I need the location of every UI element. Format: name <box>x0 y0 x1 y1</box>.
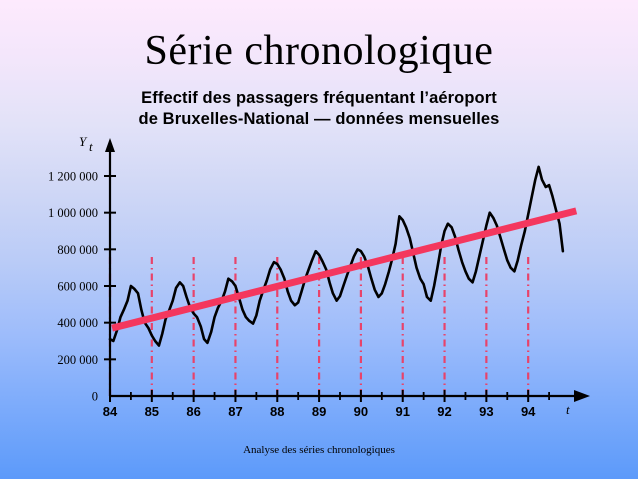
x-tick-label-87: 87 <box>228 404 242 419</box>
y-axis-title-subscript: t <box>89 139 93 154</box>
x-tick-label-94: 94 <box>521 404 536 419</box>
y-axis-title: Y <box>79 134 88 149</box>
slide-footer-caption: Analyse des séries chronologiques <box>0 444 638 456</box>
linear-trend-line <box>112 211 576 328</box>
x-tick-label-84: 84 <box>103 404 118 419</box>
x-tick-label-90: 90 <box>354 404 368 419</box>
y-tick-label-1000000: 1 000 000 <box>48 206 98 220</box>
x-tick-label-89: 89 <box>312 404 326 419</box>
y-tick-label-1200000: 1 200 000 <box>48 170 98 184</box>
y-axis-ticks: 0200 000400 000600 000800 0001 000 0001 … <box>48 170 116 404</box>
y-tick-label-800000: 800 000 <box>57 243 98 257</box>
x-tick-label-86: 86 <box>186 404 200 419</box>
y-tick-label-600000: 600 000 <box>57 280 98 294</box>
x-tick-label-85: 85 <box>145 404 159 419</box>
y-tick-label-200000: 200 000 <box>57 353 98 367</box>
y-tick-label-0: 0 <box>92 390 98 404</box>
x-tick-label-92: 92 <box>437 404 451 419</box>
x-tick-label-91: 91 <box>395 404 409 419</box>
x-axis-arrow-icon <box>574 390 590 402</box>
time-series-chart: 0200 000400 000600 000800 0001 000 0001 … <box>0 0 638 479</box>
x-axis-ticks: 8485868788899091929394 <box>103 390 549 419</box>
x-tick-label-88: 88 <box>270 404 284 419</box>
slide-canvas: Série chronologique Effectif des passage… <box>0 0 638 479</box>
passenger-series-line <box>110 167 563 346</box>
x-axis-title: t <box>566 402 570 417</box>
y-tick-label-400000: 400 000 <box>57 316 98 330</box>
x-tick-label-93: 93 <box>479 404 493 419</box>
y-axis-arrow-icon <box>105 138 115 152</box>
